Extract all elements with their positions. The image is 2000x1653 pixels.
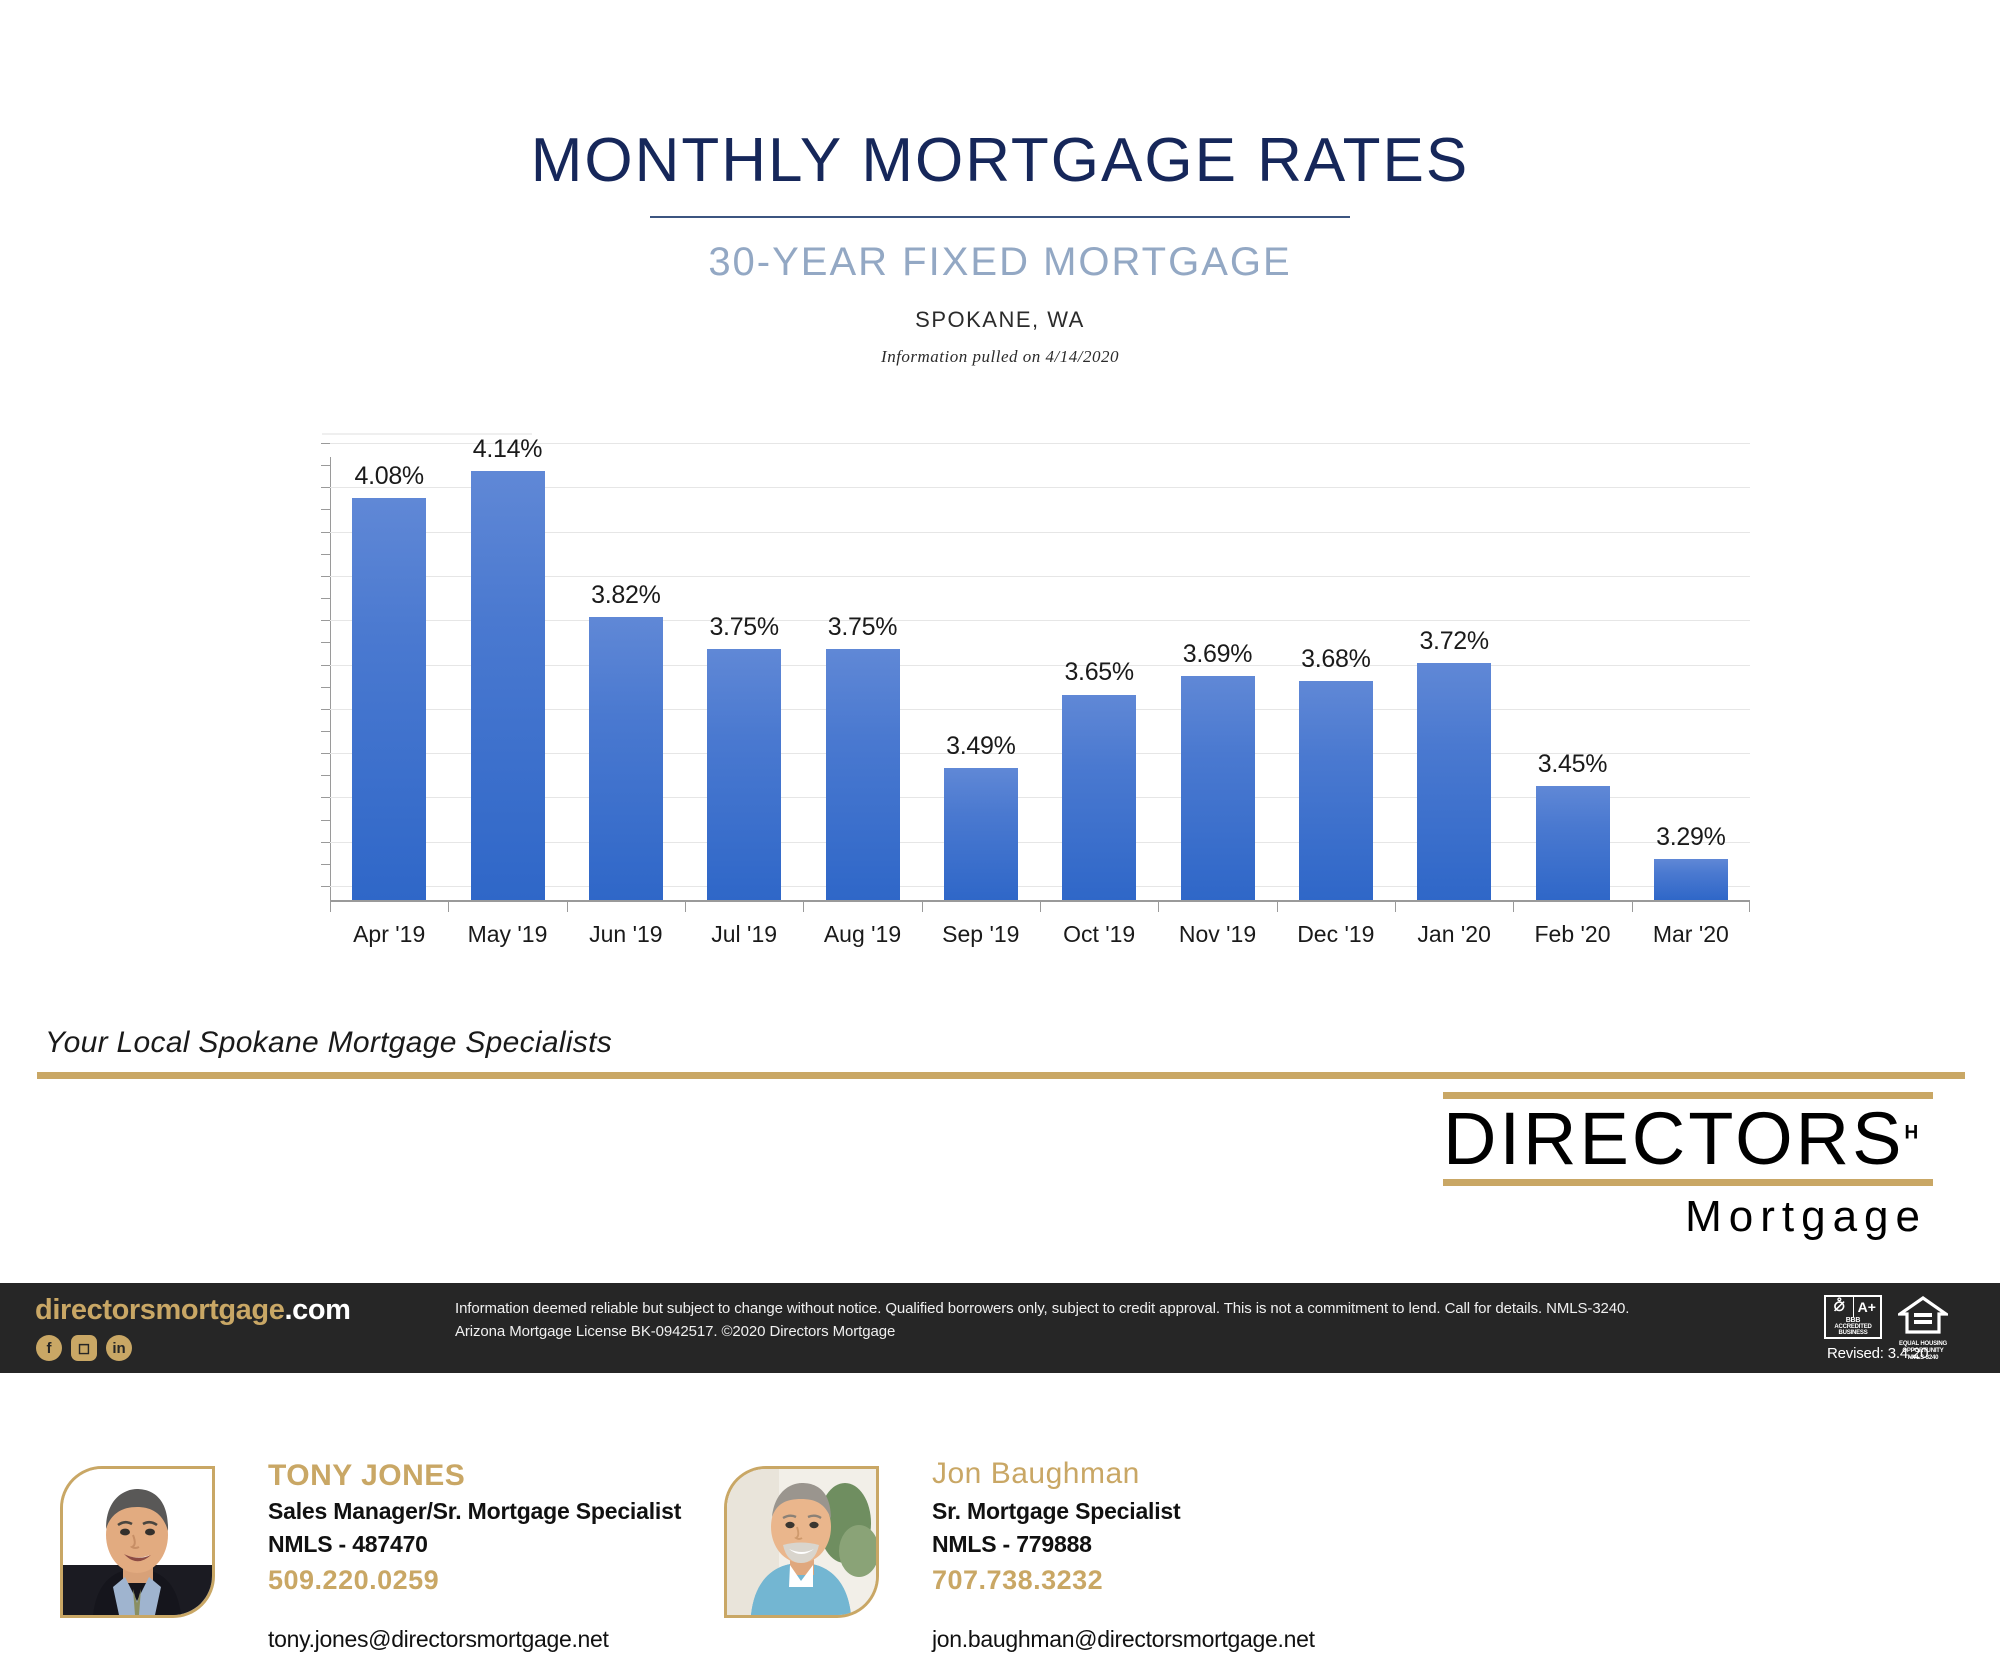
page-subtitle: 30-YEAR FIXED MORTGAGE: [0, 240, 2000, 285]
website-name: directorsmortgage: [35, 1294, 284, 1326]
disclaimer-line-1: Information deemed reliable but subject …: [455, 1297, 1765, 1320]
page-header: MONTHLY MORTGAGE RATES 30-YEAR FIXED MOR…: [0, 0, 2000, 367]
bbb-sublabel: ACCREDITED BUSINESS: [1826, 1324, 1880, 1337]
agent-phone[interactable]: 509.220.0259: [268, 1565, 439, 1596]
chart-bar: [1417, 663, 1491, 900]
bar-value-label: 3.75%: [684, 613, 804, 642]
legal-disclaimer: Information deemed reliable but subject …: [455, 1297, 1765, 1344]
chart-plot-area: 4.08%Apr '194.14%May '193.82%Jun '193.75…: [330, 443, 1750, 900]
bar-value-label: 3.82%: [566, 581, 686, 610]
y-axis-tick: [321, 532, 330, 533]
y-axis-tick: [321, 797, 330, 798]
y-axis-tick: [321, 886, 330, 887]
chart-bar: [707, 649, 781, 900]
x-axis-tick: [1040, 902, 1041, 912]
y-axis-tick: [321, 687, 330, 688]
bbb-grade: A+: [1854, 1297, 1881, 1317]
instagram-icon[interactable]: ◻: [71, 1335, 97, 1361]
avatar: [60, 1466, 215, 1618]
agent-email[interactable]: jon.baughman@directorsmortgage.net: [932, 1626, 1315, 1653]
bar-value-label: 3.45%: [1513, 750, 1633, 779]
title-divider: [650, 216, 1350, 218]
agent-photo-jon-baughman: [727, 1469, 876, 1615]
y-axis-tick: [321, 620, 330, 621]
avatar: [724, 1466, 879, 1618]
website-tld: .com: [284, 1294, 350, 1326]
agent-role: Sales Manager/Sr. Mortgage Specialist: [268, 1498, 681, 1525]
logo-word-text: DIRECTORS: [1443, 1097, 1904, 1180]
data-pulled-date: Information pulled on 4/14/2020: [0, 347, 2000, 367]
specialists-tagline: Your Local Spokane Mortgage Specialists: [45, 1026, 612, 1060]
bbb-label: BBB: [1846, 1317, 1861, 1324]
y-axis-tick: [321, 731, 330, 732]
agent-phone[interactable]: 707.738.3232: [932, 1565, 1103, 1596]
directors-mortgage-logo: DIRECTORSH Mortgage: [1443, 1092, 1933, 1242]
agent-nmls: NMLS - 487470: [268, 1531, 428, 1558]
agent-name: TONY JONES: [268, 1459, 465, 1493]
bar-value-label: 3.29%: [1631, 823, 1751, 852]
chart-bar: [944, 768, 1018, 900]
x-axis-label: Mar '20: [1621, 921, 1761, 948]
disclaimer-line-2: Arizona Mortgage License BK-0942517. ©20…: [455, 1320, 1765, 1343]
chart-bar: [352, 498, 426, 900]
y-axis-tick: [321, 775, 330, 776]
y-axis-tick: [321, 665, 330, 666]
x-axis-tick: [448, 902, 449, 912]
y-axis: [330, 457, 331, 900]
page-footer: directorsmortgage.com f ◻ in Information…: [0, 1283, 2000, 1373]
social-links: f ◻ in: [36, 1335, 132, 1361]
y-axis-tick: [321, 554, 330, 555]
bar-value-label: 3.49%: [921, 732, 1041, 761]
x-axis-tick: [330, 902, 331, 912]
agent-email[interactable]: tony.jones@directorsmortgage.net: [268, 1626, 609, 1653]
logo-wordmark: DIRECTORSH: [1443, 1099, 1933, 1179]
x-axis-tick: [1749, 902, 1750, 912]
chart-bar: [1062, 695, 1136, 901]
bar-value-label: 3.75%: [803, 613, 923, 642]
bar-value-label: 3.68%: [1276, 645, 1396, 674]
bbb-accredited-business-icon: ⦲ A+ BBB ACCREDITED BUSINESS: [1824, 1295, 1882, 1339]
gold-divider: [37, 1072, 1965, 1079]
chart-bar: [1536, 786, 1610, 900]
x-axis-tick: [922, 902, 923, 912]
linkedin-icon[interactable]: in: [106, 1335, 132, 1361]
agent-name: Jon Baughman: [932, 1457, 1140, 1491]
chart-bar: [589, 617, 663, 900]
mortgage-rate-bar-chart: 4.08%Apr '194.14%May '193.82%Jun '193.75…: [330, 443, 1750, 943]
revised-date: Revised: 3.4.20: [1827, 1345, 1928, 1362]
y-axis-tick: [321, 820, 330, 821]
chart-bar: [471, 471, 545, 900]
y-axis-tick: [321, 598, 330, 599]
x-axis-tick: [1158, 902, 1159, 912]
x-axis-tick: [567, 902, 568, 912]
y-axis-tick: [321, 576, 330, 577]
logo-superscript: H: [1904, 1122, 1918, 1143]
x-axis-tick: [1395, 902, 1396, 912]
eho-house-glyph: [1898, 1295, 1948, 1335]
y-axis-tick: [321, 842, 330, 843]
x-axis-tick: [685, 902, 686, 912]
x-axis-tick: [1632, 902, 1633, 912]
chart-bar: [1181, 676, 1255, 900]
page-title: MONTHLY MORTGAGE RATES: [0, 130, 2000, 192]
logo-subword: Mortgage: [1443, 1186, 1933, 1242]
y-axis-tick: [321, 642, 330, 643]
chart-bar: [1654, 859, 1728, 900]
x-axis-tick: [1513, 902, 1514, 912]
chart-bar: [1299, 681, 1373, 900]
bar-value-label: 3.69%: [1158, 640, 1278, 669]
agent-photo-tony-jones: [63, 1469, 212, 1615]
x-axis-tick: [1277, 902, 1278, 912]
bar-value-label: 3.72%: [1394, 627, 1514, 656]
y-axis-tick: [321, 509, 330, 510]
bar-value-label: 4.08%: [329, 462, 449, 491]
bar-value-label: 4.14%: [448, 435, 568, 464]
y-axis-tick: [321, 753, 330, 754]
location-label: SPOKANE, WA: [0, 307, 2000, 333]
agent-nmls: NMLS - 779888: [932, 1531, 1092, 1558]
facebook-icon[interactable]: f: [36, 1335, 62, 1361]
chart-bar: [826, 649, 900, 900]
bar-value-label: 3.65%: [1039, 658, 1159, 687]
x-axis-tick: [803, 902, 804, 912]
y-axis-tick: [321, 864, 330, 865]
agent-role: Sr. Mortgage Specialist: [932, 1498, 1180, 1525]
y-axis-tick: [321, 709, 330, 710]
bbb-swirl-icon: ⦲: [1826, 1297, 1854, 1317]
y-axis-tick: [321, 443, 330, 444]
website-link[interactable]: directorsmortgage.com: [35, 1294, 351, 1327]
